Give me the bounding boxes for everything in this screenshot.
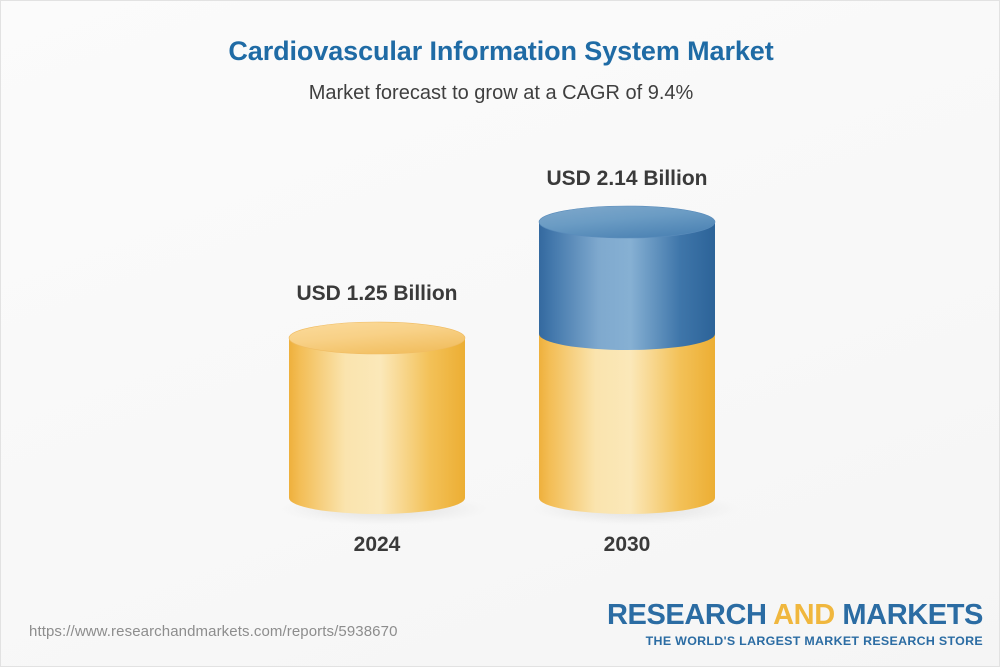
- category-label-2030: 2030: [477, 533, 777, 557]
- brand-word-research: RESEARCH: [607, 599, 773, 631]
- bar-cylinder-2030: [539, 206, 715, 514]
- bar-segment-blue-2030: [539, 222, 715, 350]
- brand-tagline: THE WORLD'S LARGEST MARKET RESEARCH STOR…: [607, 635, 983, 647]
- brand-word-and: AND: [773, 599, 835, 631]
- value-label-2024: USD 1.25 Billion: [227, 282, 527, 306]
- cylinder-bar-chart: [1, 1, 1000, 667]
- brand-word-markets: MARKETS: [835, 599, 983, 631]
- brand-name: RESEARCH AND MARKETS: [607, 601, 983, 630]
- report-url[interactable]: https://www.researchandmarkets.com/repor…: [29, 623, 398, 640]
- infographic-card: Cardiovascular Information System Market…: [0, 0, 1000, 667]
- brand-logo[interactable]: RESEARCH AND MARKETS THE WORLD'S LARGEST…: [607, 601, 983, 647]
- bar-cap-2030: [539, 206, 715, 238]
- bar-cylinder-2024: [289, 322, 465, 514]
- value-label-2030: USD 2.14 Billion: [477, 167, 777, 191]
